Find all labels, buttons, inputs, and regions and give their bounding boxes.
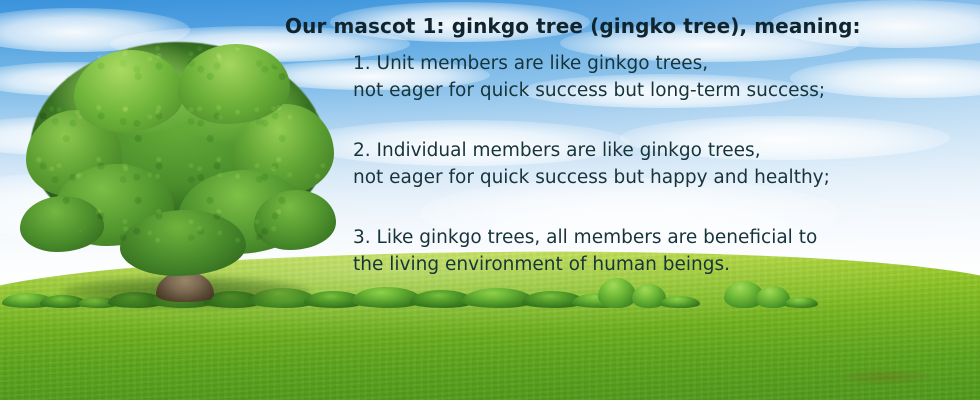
- meaning-point-3: 3. Like ginkgo trees, all members are be…: [353, 224, 817, 278]
- page-title: Our mascot 1: ginkgo tree (gingko tree),…: [285, 13, 861, 39]
- mascot-banner: Our mascot 1: ginkgo tree (gingko tree),…: [0, 0, 980, 400]
- text-overlay: Our mascot 1: ginkgo tree (gingko tree),…: [0, 0, 980, 400]
- meaning-point-1: 1. Unit members are like ginkgo trees, n…: [353, 50, 825, 104]
- meaning-point-2: 2. Individual members are like ginkgo tr…: [353, 137, 830, 191]
